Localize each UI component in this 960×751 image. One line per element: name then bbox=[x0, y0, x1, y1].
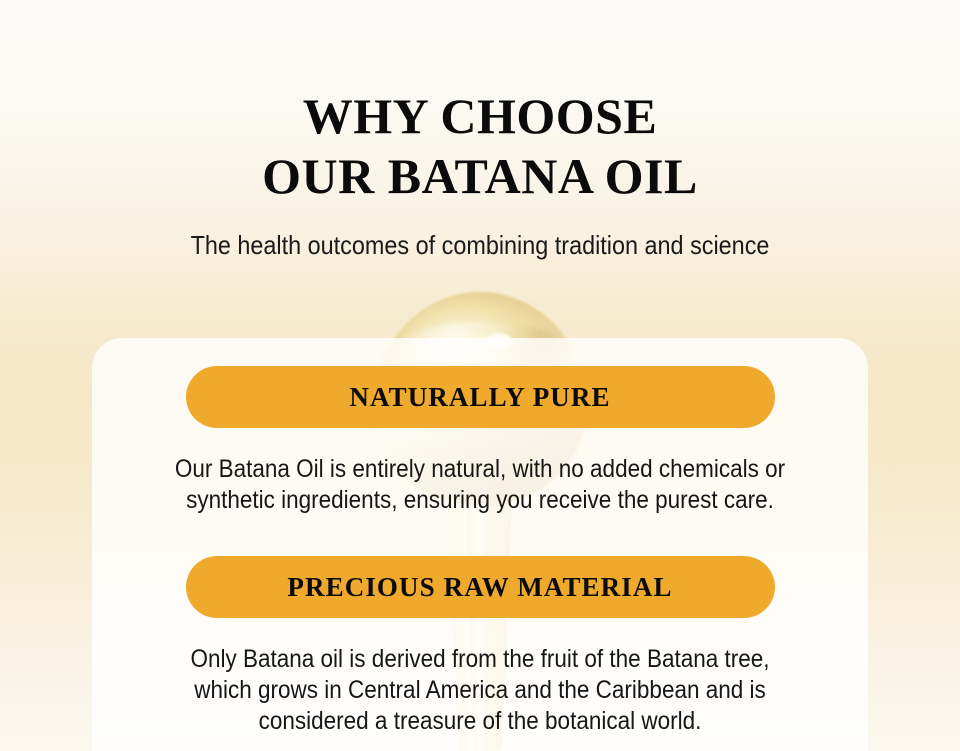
feature-description-line: considered a treasure of the botanical w… bbox=[111, 706, 849, 737]
feature-section-precious-raw-material: PRECIOUS RAW MATERIAL Only Batana oil is… bbox=[0, 556, 960, 737]
feature-description-line: which grows in Central America and the C… bbox=[111, 675, 849, 706]
feature-badge-label: PRECIOUS RAW MATERIAL bbox=[287, 572, 672, 603]
feature-section-naturally-pure: NATURALLY PURE Our Batana Oil is entirel… bbox=[0, 366, 960, 516]
headline-line-1: WHY CHOOSE bbox=[0, 86, 960, 146]
feature-description-naturally-pure: Our Batana Oil is entirely natural, with… bbox=[111, 428, 849, 516]
feature-badge-precious-raw-material: PRECIOUS RAW MATERIAL bbox=[186, 556, 775, 618]
feature-description-line: Our Batana Oil is entirely natural, with… bbox=[111, 454, 849, 485]
promo-poster: WHY CHOOSE OUR BATANA OIL The health out… bbox=[0, 0, 960, 751]
feature-description-line: Only Batana oil is derived from the frui… bbox=[111, 644, 849, 675]
feature-description-precious-raw-material: Only Batana oil is derived from the frui… bbox=[111, 618, 849, 737]
feature-badge-naturally-pure: NATURALLY PURE bbox=[186, 366, 775, 428]
poster-header: WHY CHOOSE OUR BATANA OIL The health out… bbox=[0, 0, 960, 261]
page-title: WHY CHOOSE OUR BATANA OIL bbox=[0, 0, 960, 206]
page-subtitle: The health outcomes of combining traditi… bbox=[48, 206, 912, 261]
feature-description-line: synthetic ingredients, ensuring you rece… bbox=[111, 485, 849, 516]
headline-line-2: OUR BATANA OIL bbox=[0, 146, 960, 206]
feature-badge-label: NATURALLY PURE bbox=[349, 382, 610, 413]
